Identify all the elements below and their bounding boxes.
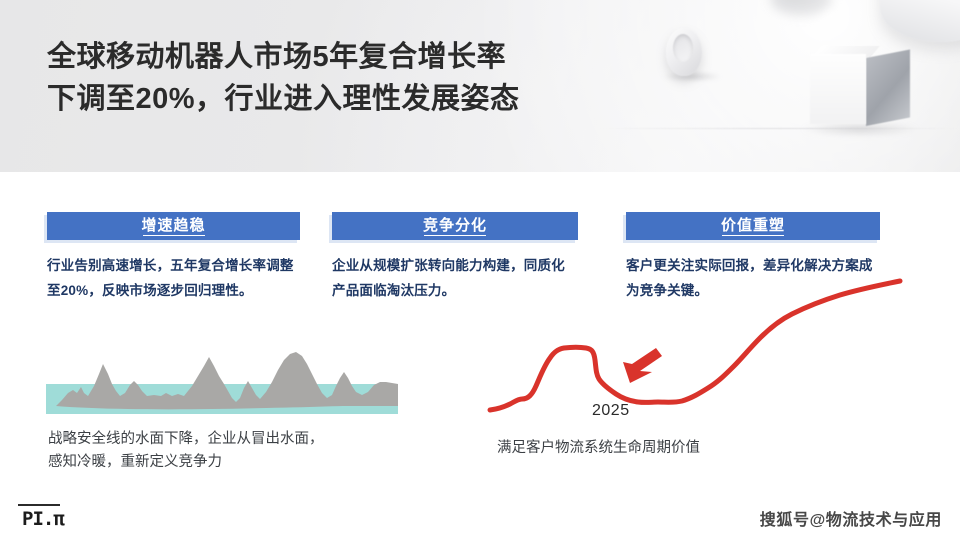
footer-divider xyxy=(18,504,60,506)
page-title: 全球移动机器人市场5年复合增长率 下调至20%，行业进入理性发展姿态 xyxy=(47,36,647,120)
mountain-svg xyxy=(46,338,398,422)
chip-heading-3-label: 价值重塑 xyxy=(721,217,785,234)
cube-front-face xyxy=(810,54,866,124)
slide-root: 全球移动机器人市场5年复合增长率 下调至20%，行业进入理性发展姿态 增速趋稳 … xyxy=(0,0,960,540)
column-1-body: 行业告别高速增长，五年复合增长率调整至20%，反映市场逐步回归理性。 xyxy=(47,254,300,304)
blurred-sphere-prop-icon xyxy=(770,0,832,16)
content-column-1: 增速趋稳 行业告别高速增长，五年复合增长率调整至20%，反映市场逐步回归理性。 xyxy=(47,212,300,304)
growth-curve-illustration xyxy=(480,268,920,428)
chip-heading-2-label: 竞争分化 xyxy=(423,217,487,234)
cube-shadow xyxy=(800,122,920,136)
slide-header-band: 全球移动机器人市场5年复合增长率 下调至20%，行业进入理性发展姿态 xyxy=(0,0,960,172)
growth-curve-svg xyxy=(480,268,920,428)
chip-heading-1-label: 增速趋稳 xyxy=(141,217,205,234)
chip-heading-1: 增速趋稳 xyxy=(47,212,300,240)
mountain-waterline-illustration xyxy=(46,338,398,422)
cube-side-face xyxy=(866,49,910,126)
chip-heading-2: 竞争分化 xyxy=(332,212,578,240)
chip-underline-1 xyxy=(143,235,205,237)
right-graphic-caption: 满足客户物流系统生命周期价值 xyxy=(497,437,827,460)
chip-heading-3: 价值重塑 xyxy=(626,212,880,240)
source-watermark: 搜狐号@物流技术与应用 xyxy=(760,506,942,530)
growth-curve-path xyxy=(490,281,900,410)
cone-prop-icon xyxy=(880,0,960,42)
left-graphic-caption: 战略安全线的水面下降，企业从冒出水面， 感知冷暖，重新定义竞争力 xyxy=(48,428,428,475)
mountain-silhouette xyxy=(56,352,398,406)
ring-inner-hole xyxy=(673,34,693,62)
down-left-arrow-icon xyxy=(623,348,662,383)
brand-logo: PI.π xyxy=(22,508,64,530)
chip-underline-3 xyxy=(722,235,784,237)
chip-underline-2 xyxy=(424,235,486,237)
year-marker-2025: 2025 xyxy=(592,402,630,420)
